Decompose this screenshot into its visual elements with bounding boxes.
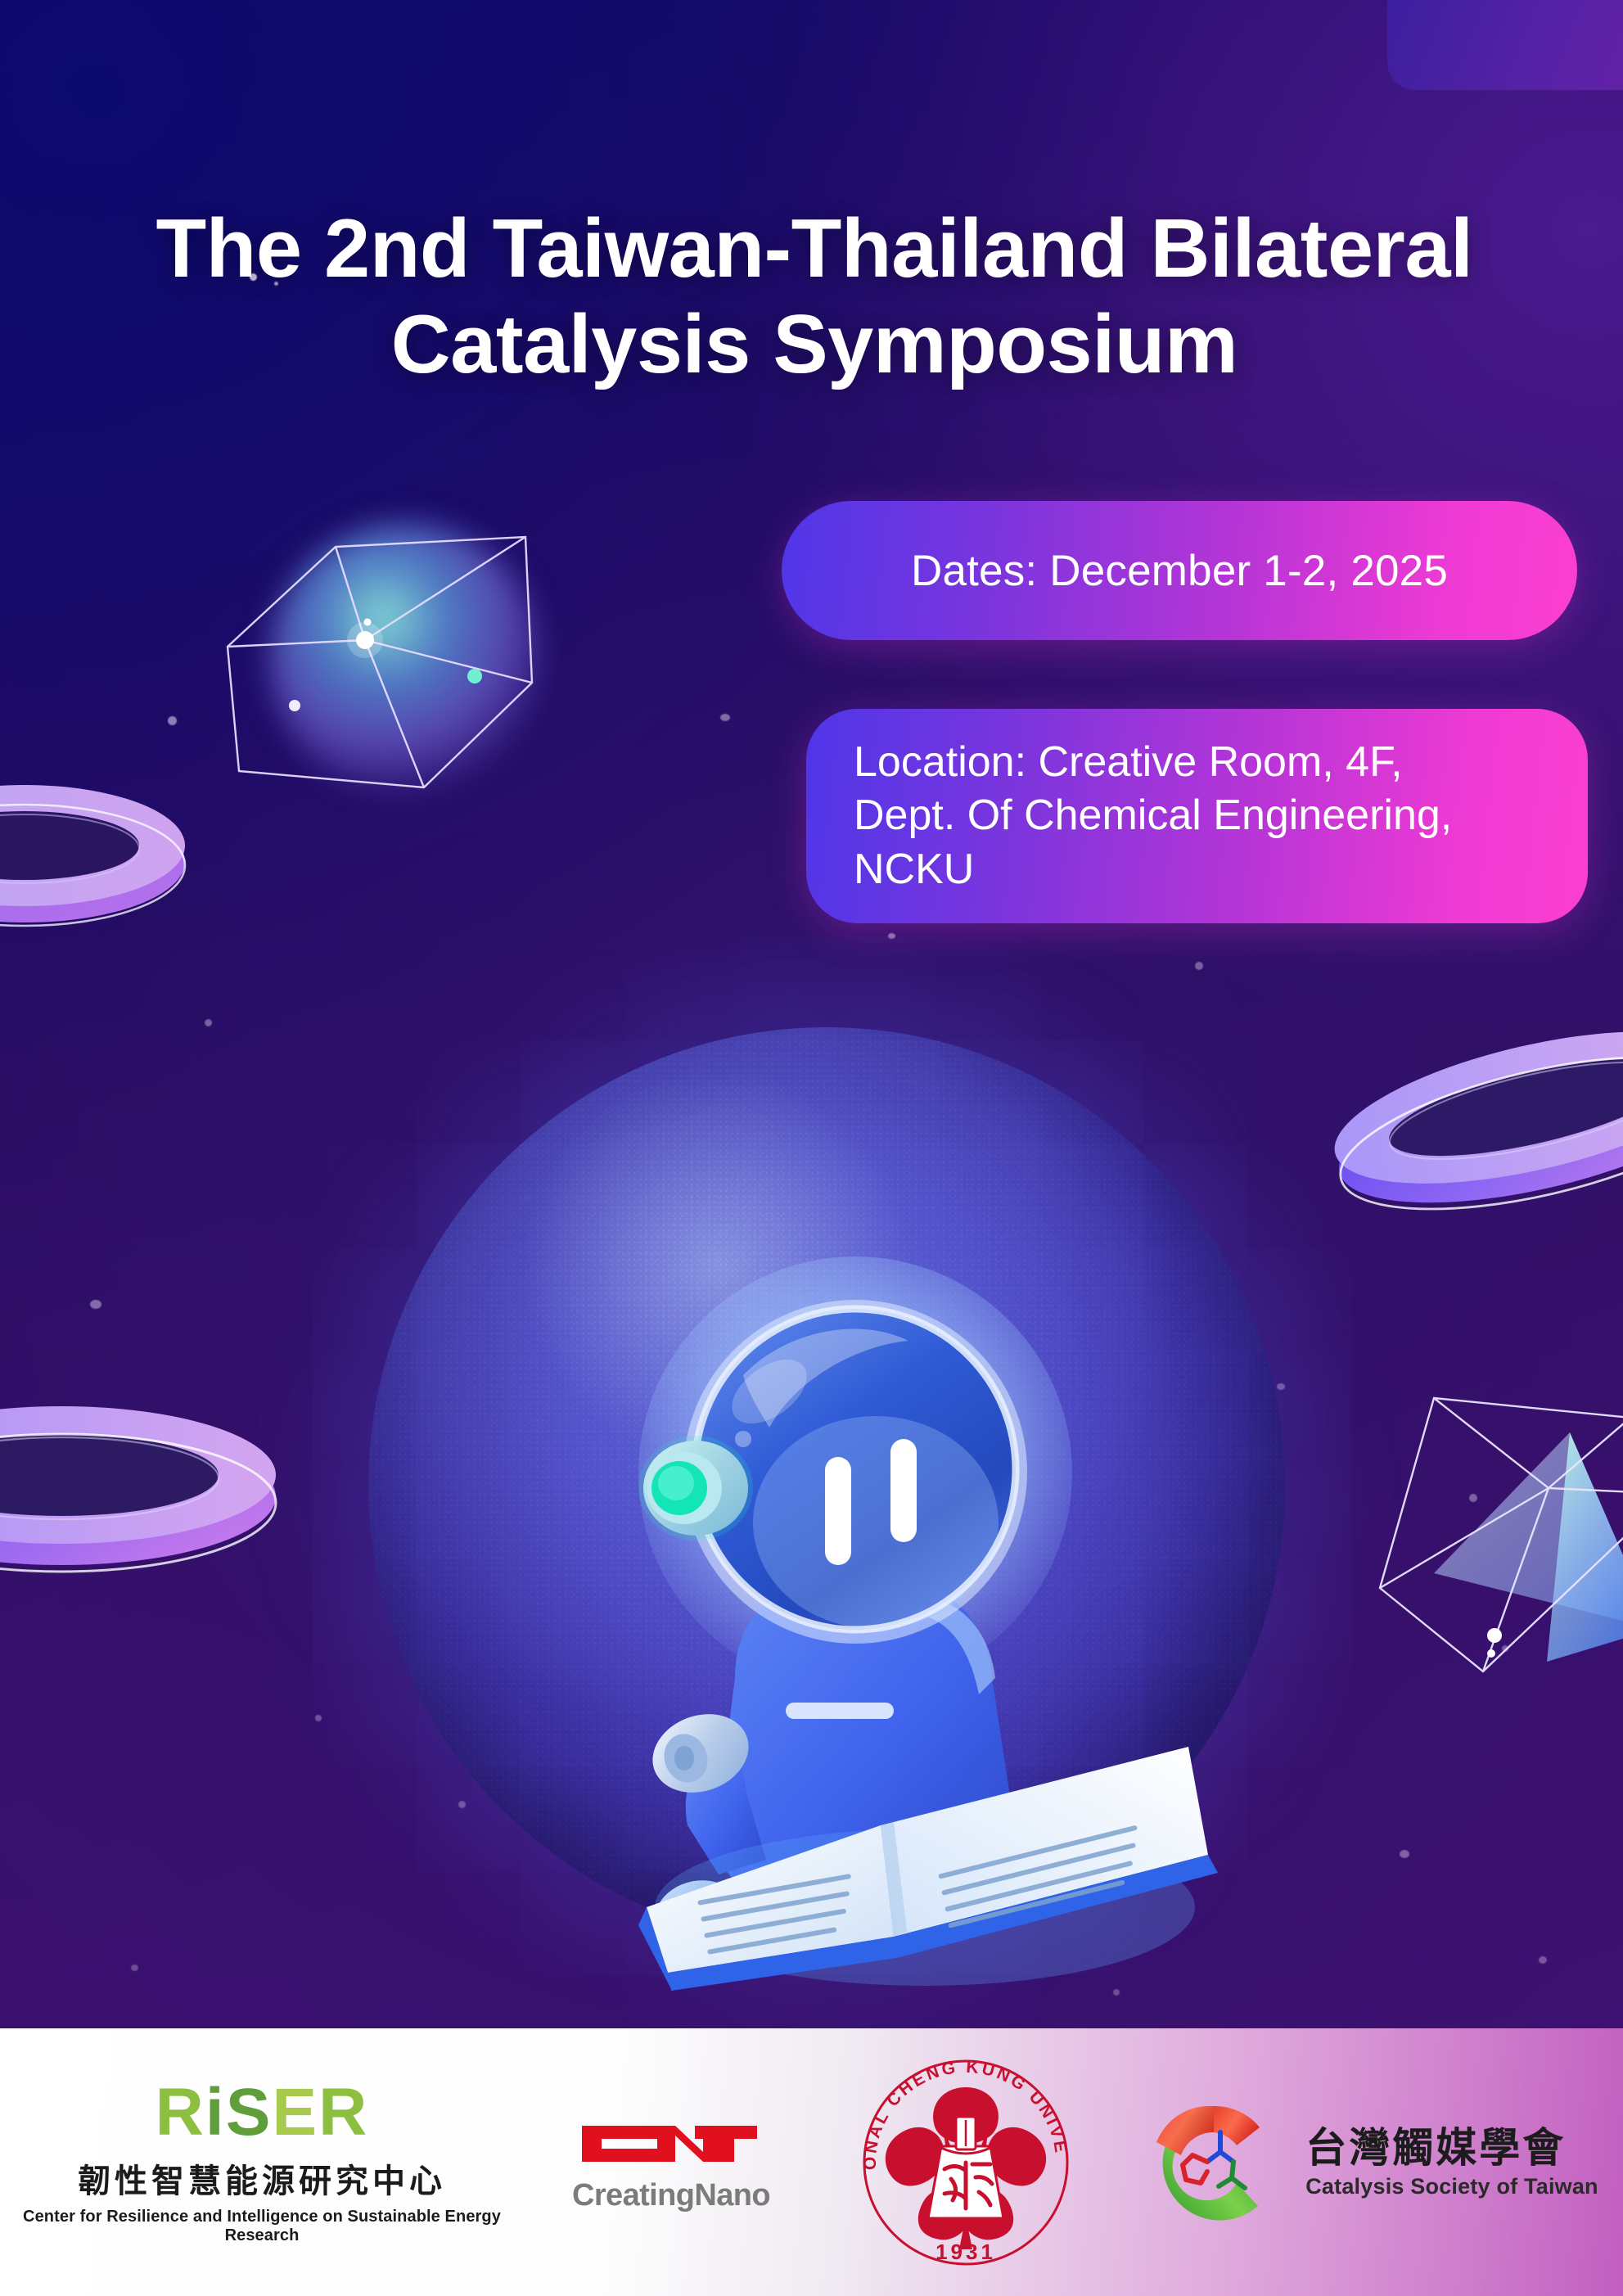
cnt-subtitle: CreatingNano xyxy=(572,2178,770,2213)
riser-letter-e: E xyxy=(272,2075,318,2149)
wireframe-cube-icon xyxy=(205,483,557,827)
catalysis-society-logo: 台灣觸媒學會 Catalysis Society of Taiwan xyxy=(1113,2028,1621,2296)
location-line-3: NCKU xyxy=(854,843,1452,897)
cnt-mark-icon xyxy=(572,2111,770,2176)
location-line-2: Dept. Of Chemical Engineering, xyxy=(854,789,1452,843)
sponsor-logo-bar: RiSER 韌性智慧能源研究中心 Center for Resilience a… xyxy=(0,2028,1623,2296)
astronaut-robot-illustration xyxy=(524,1252,1244,1989)
page-title: The 2nd Taiwan-Thailand Bilateral Cataly… xyxy=(41,201,1588,393)
ncku-seal: NATIONAL CHENG KUNG UNIVERSITY 1931 xyxy=(818,2028,1113,2296)
catalysis-swoosh-icon xyxy=(1135,2085,1291,2240)
ring-torus-top-left xyxy=(0,757,196,970)
location-line-1: Location: Creative Room, 4F, xyxy=(854,736,1452,790)
title-line-1: The 2nd Taiwan-Thailand Bilateral xyxy=(156,203,1472,295)
ring-torus-mid-left xyxy=(0,1359,295,1604)
riser-english-name: Center for Resilience and Intelligence o… xyxy=(0,2208,524,2245)
riser-letter-i: i xyxy=(205,2075,226,2149)
ring-torus-right xyxy=(1342,997,1623,1234)
riser-wordmark: RiSER xyxy=(0,2079,524,2146)
poster-canvas: The 2nd Taiwan-Thailand Bilateral Cataly… xyxy=(0,0,1623,2296)
title-line-2: Catalysis Symposium xyxy=(391,299,1238,390)
dates-text: Dates: December 1-2, 2025 xyxy=(911,546,1448,596)
riser-chinese-name: 韌性智慧能源研究中心 xyxy=(0,2154,524,2202)
catalysis-society-english: Catalysis Society of Taiwan xyxy=(1305,2175,1598,2198)
cnt-logo: CreatingNano xyxy=(524,2028,818,2296)
riser-logo: RiSER 韌性智慧能源研究中心 Center for Resilience a… xyxy=(0,2028,524,2296)
catalysis-society-chinese: 台灣觸媒學會 xyxy=(1305,2127,1598,2170)
wireframe-cube-pyramid-icon xyxy=(1342,1383,1623,1678)
location-pill: Location: Creative Room, 4F, Dept. Of Ch… xyxy=(806,709,1588,923)
riser-letter-r2: R xyxy=(318,2075,368,2149)
riser-letter-s: S xyxy=(226,2075,273,2149)
dates-pill: Dates: December 1-2, 2025 xyxy=(782,501,1577,640)
riser-letter-r1: R xyxy=(156,2075,205,2149)
